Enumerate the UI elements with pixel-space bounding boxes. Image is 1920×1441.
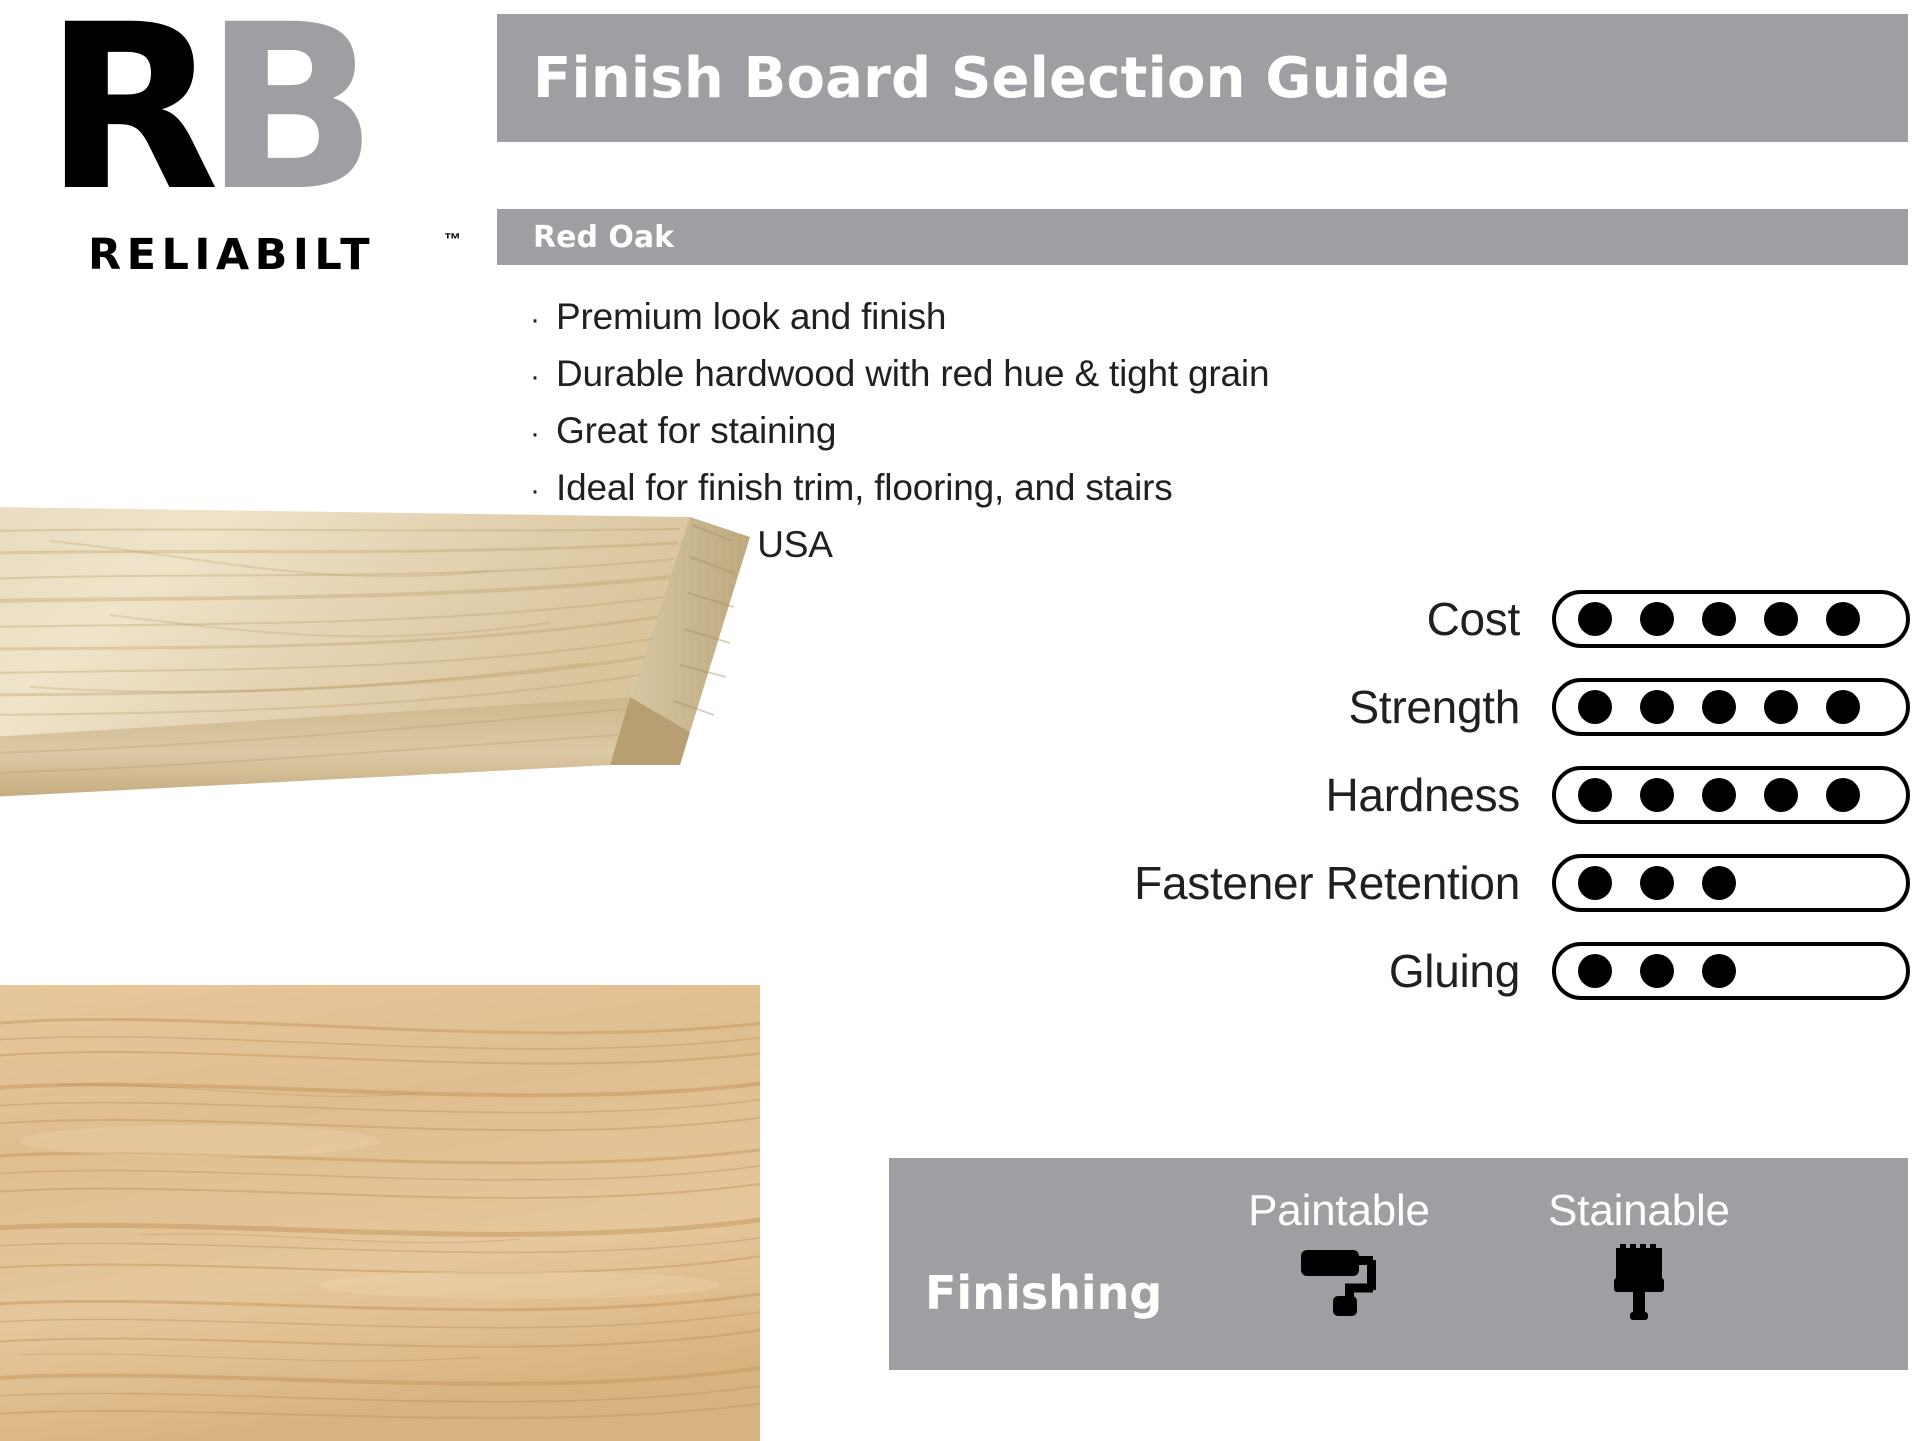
finishing-option-label: Paintable (1179, 1186, 1499, 1236)
brand-logo: R B RELIABILT ™ (44, 8, 434, 268)
list-item: · Durable hardwood with red hue & tight … (530, 347, 1530, 404)
rating-dot (1702, 866, 1736, 900)
finishing-option-stainable: Stainable (1479, 1186, 1799, 1322)
rating-label: Gluing (1389, 944, 1552, 998)
rating-row-strength: Strength (900, 663, 1910, 751)
logo-letter-b: B (204, 8, 368, 208)
list-item: · Great for staining (530, 404, 1530, 461)
page-title-bar: Finish Board Selection Guide (497, 14, 1908, 142)
product-name: Red Oak (497, 220, 674, 255)
list-item-label: Great for staining (556, 404, 836, 458)
rating-dot (1764, 690, 1798, 724)
rating-dot (1578, 602, 1612, 636)
finishing-panel: Finishing Paintable Stainable (889, 1158, 1908, 1370)
rating-dot (1764, 602, 1798, 636)
rating-dot (1826, 602, 1860, 636)
rating-row-cost: Cost (900, 575, 1910, 663)
trademark-symbol: ™ (444, 230, 461, 250)
rating-dot (1702, 602, 1736, 636)
rating-label: Fastener Retention (1134, 856, 1552, 910)
logo-wordmark: RELIABILT (88, 230, 375, 280)
list-item-label: Durable hardwood with red hue & tight gr… (556, 347, 1269, 401)
rating-row-fastener-retention: Fastener Retention (900, 839, 1910, 927)
list-item: · Premium look and finish (530, 290, 1530, 347)
bullet-icon: · (530, 293, 556, 347)
rating-meter (1552, 678, 1910, 736)
rating-label: Strength (1349, 680, 1553, 734)
rating-dot (1826, 690, 1860, 724)
rating-meter (1552, 942, 1910, 1000)
logo-letter-r: R (44, 8, 210, 208)
grain-closeup-image (0, 985, 760, 1441)
board-product-image (0, 497, 860, 907)
rating-dot (1640, 954, 1674, 988)
rating-row-hardness: Hardness (900, 751, 1910, 839)
rating-meter (1552, 590, 1910, 648)
page-title: Finish Board Selection Guide (497, 46, 1450, 111)
rating-meter (1552, 854, 1910, 912)
rating-dot-empty (1826, 866, 1860, 900)
list-item-label: Premium look and finish (556, 290, 946, 344)
rating-dot (1640, 690, 1674, 724)
bullet-icon: · (530, 407, 556, 461)
rating-dot (1702, 954, 1736, 988)
product-subtitle-bar: Red Oak (497, 209, 1908, 265)
paint-brush-icon (1479, 1244, 1799, 1322)
rating-dot (1826, 778, 1860, 812)
logo-mark: R B (44, 8, 434, 208)
rating-dot (1702, 690, 1736, 724)
rating-dot (1702, 778, 1736, 812)
rating-dot-empty (1764, 866, 1798, 900)
paint-roller-icon (1179, 1244, 1499, 1322)
rating-dot (1578, 954, 1612, 988)
rating-row-gluing: Gluing (900, 927, 1910, 1015)
rating-dot (1578, 866, 1612, 900)
rating-dot (1578, 690, 1612, 724)
finishing-option-paintable: Paintable (1179, 1186, 1499, 1322)
rating-dot (1578, 778, 1612, 812)
bullet-icon: · (530, 350, 556, 404)
rating-meter (1552, 766, 1910, 824)
ratings-panel: Cost Strength Hardness Fastener (900, 575, 1910, 1015)
rating-dot-empty (1764, 954, 1798, 988)
rating-dot-empty (1826, 954, 1860, 988)
rating-dot (1764, 778, 1798, 812)
rating-dot (1640, 602, 1674, 636)
rating-dot (1640, 778, 1674, 812)
rating-label: Cost (1427, 592, 1552, 646)
rating-label: Hardness (1326, 768, 1552, 822)
finishing-option-label: Stainable (1479, 1186, 1799, 1236)
rating-dot (1640, 866, 1674, 900)
finishing-label: Finishing (925, 1266, 1162, 1320)
